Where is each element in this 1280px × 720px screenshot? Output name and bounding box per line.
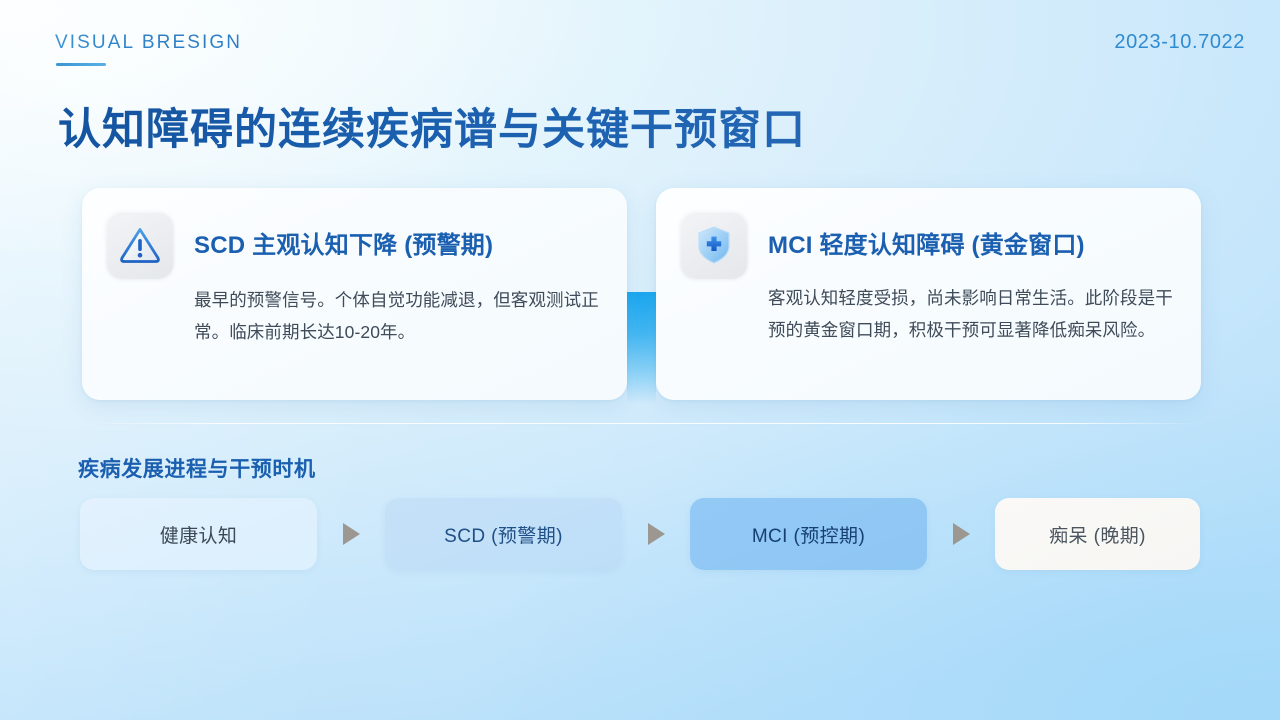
section-divider (82, 423, 1200, 424)
date-label: 2023-10.7022 (1114, 31, 1245, 54)
stage-chip-healthy[interactable]: 健康认知 (80, 498, 317, 570)
section-title-progression: 疾病发展进程与干预时机 (78, 453, 316, 483)
card-scd-header: SCD 主观认知下降 (预警期) (82, 188, 627, 279)
card-mci-body: 客观认知轻度受损，尚未影响日常生活。此阶段是干预的黄金窗口期，积极干预可显著降低… (656, 279, 1201, 347)
brand-underline (56, 63, 106, 66)
slide-canvas: VISUAL BRESIGN 2023-10.7022 认知障碍的连续疾病谱与关… (0, 0, 1280, 720)
shield-cross-icon (680, 211, 748, 279)
card-mci-header: MCI 轻度认知障碍 (黄金窗口) (656, 188, 1201, 279)
flow-arrow-3-icon (927, 523, 995, 545)
accent-bar (627, 292, 656, 404)
card-scd-title: SCD 主观认知下降 (预警期) (194, 225, 493, 260)
brand-label: VISUAL BRESIGN (55, 32, 242, 54)
card-scd: SCD 主观认知下降 (预警期) 最早的预警信号。个体自觉功能减退，但客观测试正… (82, 188, 627, 400)
page-title: 认知障碍的连续疾病谱与关键干预窗口 (58, 104, 806, 158)
stage-chip-mci[interactable]: MCI (预控期) (690, 498, 927, 570)
flow-arrow-1-icon (317, 523, 385, 545)
card-mci-title: MCI 轻度认知障碍 (黄金窗口) (768, 225, 1085, 260)
progression-flow: 健康认知 SCD (预警期) MCI (预控期) 痴呆 (晚期) (80, 498, 1200, 570)
warning-triangle-icon (106, 211, 174, 279)
stage-chip-scd[interactable]: SCD (预警期) (385, 498, 622, 570)
card-scd-body: 最早的预警信号。个体自觉功能减退，但客观测试正常。临床前期长达10-20年。 (82, 279, 627, 349)
flow-arrow-2-icon (622, 523, 690, 545)
card-mci: MCI 轻度认知障碍 (黄金窗口) 客观认知轻度受损，尚未影响日常生活。此阶段是… (656, 188, 1201, 400)
stage-chip-dementia[interactable]: 痴呆 (晚期) (995, 498, 1200, 570)
